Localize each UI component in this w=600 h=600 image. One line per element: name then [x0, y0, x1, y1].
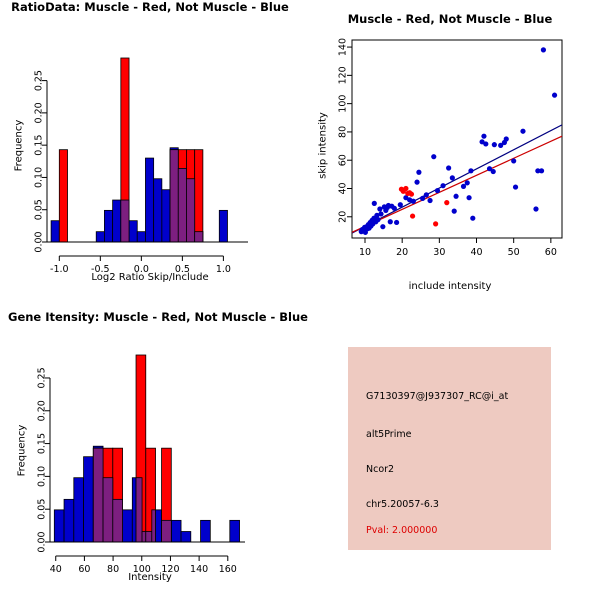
- histogram-bar-blue: [201, 520, 211, 542]
- scatter-point-blue: [414, 180, 419, 185]
- scatter-point-blue: [552, 93, 557, 98]
- scatter-point-blue: [541, 47, 546, 52]
- scatter-xlabel: include intensity: [300, 281, 600, 292]
- x-tick-label: 60: [545, 247, 557, 258]
- figure-canvas: RatioData: Muscle - Red, Not Muscle - Bl…: [0, 0, 600, 600]
- ratio-histogram-ylabel: Frequency: [14, 96, 25, 196]
- ratio-histogram-xlabel: Log2 Ratio Skip/Include: [0, 272, 300, 283]
- scatter-point-blue: [431, 154, 436, 159]
- y-tick-label: 0.15: [37, 433, 48, 454]
- histogram-bar-blue: [123, 510, 133, 542]
- scatter-point-red: [410, 213, 415, 218]
- histogram-bar-overlap: [93, 448, 103, 542]
- histogram-bar-blue: [137, 232, 145, 242]
- scatter-point-blue: [378, 211, 383, 216]
- y-tick-label: 80: [338, 126, 349, 138]
- scatter-point-blue: [511, 158, 516, 163]
- scatter-point-red: [433, 221, 438, 226]
- histogram-bar-overlap: [121, 200, 129, 242]
- scatter-point-blue: [375, 217, 380, 222]
- scatter-point-blue: [377, 206, 382, 211]
- histogram-bar-blue: [171, 520, 181, 542]
- y-tick-label: 0.05: [34, 199, 45, 220]
- scatter-point-blue: [394, 220, 399, 225]
- gene-histogram-xlabel: Intensity: [0, 572, 300, 583]
- scatter-point-blue: [539, 168, 544, 173]
- y-tick-label: 100: [338, 95, 349, 113]
- panel-ratio-histogram: RatioData: Muscle - Red, Not Muscle - Bl…: [0, 0, 300, 300]
- probe-id-text: G7130397@J937307_RC@i_at: [366, 391, 508, 402]
- scatter-point-blue: [424, 192, 429, 197]
- histogram-bar-overlap: [162, 520, 172, 542]
- histogram-bar-red: [195, 150, 203, 242]
- gene-histogram-bars: [54, 355, 239, 542]
- histogram-bar-overlap: [113, 499, 123, 542]
- scatter-point-blue: [380, 224, 385, 229]
- scatter-point-red: [444, 200, 449, 205]
- x-tick-label: 30: [433, 247, 445, 258]
- panel-gene-histogram: Gene Itensity: Muscle - Red, Not Muscle …: [0, 310, 300, 600]
- histogram-bar-blue: [51, 221, 59, 242]
- histogram-bar-overlap: [136, 478, 142, 542]
- scatter-point-blue: [435, 188, 440, 193]
- scatter-point-blue: [440, 183, 445, 188]
- y-tick-label: 0.05: [37, 499, 48, 520]
- histogram-bar-blue: [74, 478, 84, 542]
- scatter-point-blue: [481, 134, 486, 139]
- pval-text: Pval: 2.000000: [366, 525, 437, 536]
- scatter-point-blue: [483, 141, 488, 146]
- histogram-bar-blue: [145, 158, 153, 242]
- histogram-bar-overlap: [103, 478, 113, 542]
- ratio-histogram-plot: 0.000.050.100.150.200.25-1.0-0.50.00.51.…: [0, 0, 300, 300]
- y-tick-label: 0.00: [37, 531, 48, 552]
- scatter-point-blue: [491, 169, 496, 174]
- scatter-point-blue: [388, 219, 393, 224]
- y-tick-label: 0.00: [34, 231, 45, 252]
- gene-symbol-text: Ncor2: [366, 464, 394, 475]
- x-tick-label: 20: [396, 247, 408, 258]
- histogram-bar-blue: [162, 190, 170, 242]
- scatter-ylabel: skip intensity: [318, 96, 329, 196]
- gene-info-panel: G7130397@J937307_RC@i_at alt5Prime Ncor2…: [348, 347, 551, 550]
- histogram-bar-blue: [113, 200, 121, 242]
- y-tick-label: 0.20: [34, 102, 45, 123]
- scatter-point-blue: [492, 142, 497, 147]
- histogram-bar-blue: [64, 499, 74, 542]
- gene-histogram-plot: 0.000.050.100.150.200.254060801001201401…: [0, 310, 300, 600]
- scatter-point-blue: [411, 199, 416, 204]
- histogram-bar-overlap: [152, 510, 156, 542]
- scatter-point-blue: [520, 129, 525, 134]
- scatter-point-blue: [372, 201, 377, 206]
- y-tick-label: 0.10: [34, 167, 45, 188]
- scatter-point-blue: [465, 180, 470, 185]
- histogram-bar-overlap: [178, 168, 186, 242]
- scatter-point-red: [409, 192, 414, 197]
- scatter-fit-line: [352, 125, 562, 233]
- histogram-bar-blue: [129, 221, 137, 242]
- scatter-points: [359, 47, 557, 235]
- histogram-bar-overlap: [146, 532, 152, 542]
- scatter-point-blue: [504, 136, 509, 141]
- scatter-point-blue: [468, 168, 473, 173]
- y-tick-label: 60: [338, 154, 349, 166]
- y-tick-label: 140: [338, 38, 349, 56]
- scatter-point-blue: [446, 165, 451, 170]
- y-tick-label: 120: [338, 66, 349, 84]
- scatter-point-blue: [466, 195, 471, 200]
- scatter-plot: 20406080100120140102030405060: [300, 0, 600, 300]
- histogram-bar-blue: [96, 232, 104, 242]
- histogram-bar-blue: [84, 457, 94, 542]
- histogram-bar-overlap: [195, 232, 203, 242]
- y-tick-label: 0.25: [37, 367, 48, 388]
- histogram-bar-overlap: [186, 179, 194, 242]
- scatter-point-blue: [452, 209, 457, 214]
- histogram-bar-red: [59, 150, 67, 242]
- scatter-point-blue: [533, 206, 538, 211]
- panel-intensity-scatter: Muscle - Red, Not Muscle - Blue 20406080…: [300, 0, 600, 300]
- ratio-histogram-bars: [51, 58, 227, 242]
- y-tick-label: 0.25: [34, 70, 45, 91]
- scatter-point-red: [403, 186, 408, 191]
- histogram-bar-blue: [230, 520, 240, 542]
- x-tick-label: 50: [508, 247, 520, 258]
- gene-histogram-ylabel: Frequency: [17, 401, 28, 501]
- y-tick-label: 0.15: [34, 135, 45, 156]
- histogram-bar-blue: [54, 510, 64, 542]
- locus-text: chr5.20057-6.3: [366, 499, 439, 510]
- scatter-fit-lines: [352, 125, 562, 233]
- histogram-bar-overlap: [170, 150, 178, 242]
- y-tick-label: 40: [338, 182, 349, 194]
- scatter-point-blue: [470, 216, 475, 221]
- histogram-bar-overlap: [142, 532, 146, 542]
- scatter-point-blue: [398, 202, 403, 207]
- histogram-bar-blue: [154, 179, 162, 242]
- scatter-point-blue: [453, 194, 458, 199]
- histogram-bar-blue: [181, 532, 191, 542]
- scatter-fit-line: [352, 136, 562, 232]
- scatter-point-blue: [427, 198, 432, 203]
- histogram-bar-blue: [219, 210, 227, 242]
- x-tick-label: 10: [359, 247, 371, 258]
- scatter-point-blue: [513, 184, 518, 189]
- scatter-point-blue: [450, 175, 455, 180]
- histogram-bar-blue: [104, 210, 112, 242]
- y-tick-label: 20: [338, 211, 349, 223]
- scatter-point-blue: [416, 170, 421, 175]
- scatter-point-blue: [392, 206, 397, 211]
- x-tick-label: 40: [470, 247, 482, 258]
- y-tick-label: 0.20: [37, 400, 48, 421]
- y-tick-label: 0.10: [37, 466, 48, 487]
- event-type-text: alt5Prime: [366, 429, 411, 440]
